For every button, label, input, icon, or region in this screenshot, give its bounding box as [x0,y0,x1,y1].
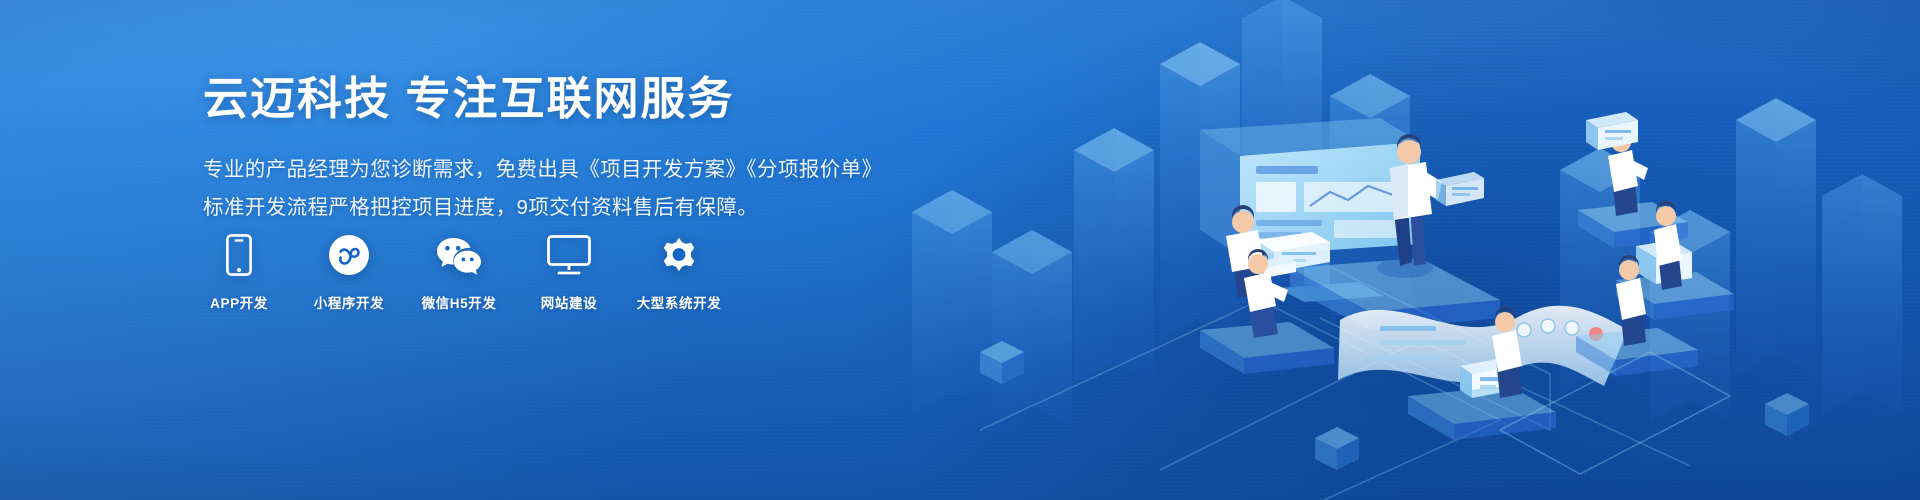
mobile-phone-icon [226,232,252,278]
banner-subtitle: 专业的产品经理为您诊断需求，免费出具《项目开发方案》《分项报价单》 标准开发流程… [203,151,963,227]
service-item-large-system[interactable]: 大型系统开发 [643,232,715,312]
hero-banner: 云迈科技 专注互联网服务 专业的产品经理为您诊断需求，免费出具《项目开发方案》《… [0,0,1920,500]
wechat-icon [435,232,483,278]
mini-program-icon [328,232,370,278]
service-item-website[interactable]: 网站建设 [533,232,605,312]
monitor-icon [547,232,591,278]
banner-copy: 云迈科技 专注互联网服务 专业的产品经理为您诊断需求，免费出具《项目开发方案》《… [203,72,963,227]
service-label: APP开发 [210,292,268,312]
page-title: 云迈科技 专注互联网服务 [203,72,963,127]
service-label: 小程序开发 [314,292,385,312]
service-label: 微信H5开发 [422,292,497,312]
isometric-illustration [860,0,1920,500]
service-label: 大型系统开发 [637,292,722,312]
subtitle-line-2: 标准开发流程严格把控项目进度，9项交付资料售后有保障。 [203,189,963,227]
service-label: 网站建设 [541,292,597,312]
subtitle-line-1: 专业的产品经理为您诊断需求，免费出具《项目开发方案》《分项报价单》 [203,151,963,189]
gear-icon [658,232,700,278]
service-item-mini-program[interactable]: 小程序开发 [313,232,385,312]
service-list: APP开发 小程序开发 微信 [203,232,715,312]
service-item-app[interactable]: APP开发 [203,232,275,312]
service-item-wechat-h5[interactable]: 微信H5开发 [423,232,495,312]
